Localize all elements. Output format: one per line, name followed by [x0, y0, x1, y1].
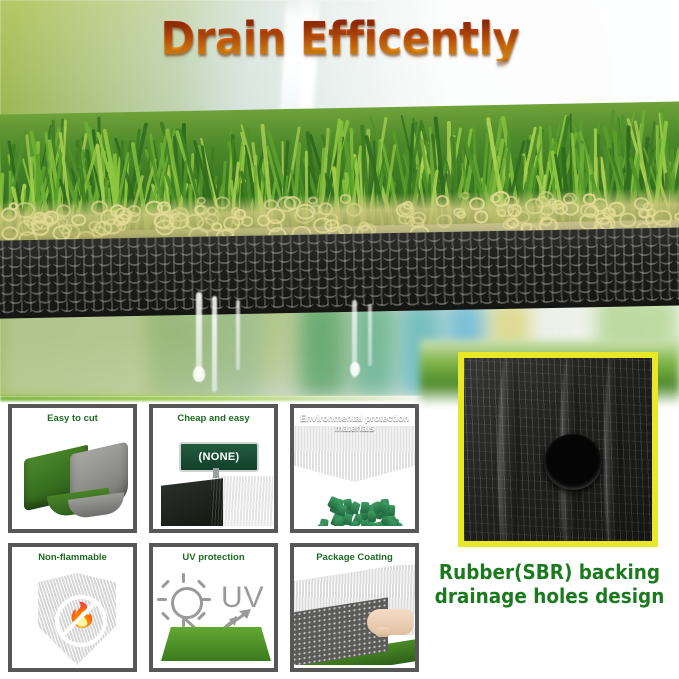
- thatch-curl: [525, 198, 544, 214]
- feature-card-easy-to-cut[interactable]: Easy to cut: [8, 404, 137, 533]
- thatch-curl: [71, 214, 86, 227]
- water-droplet: [193, 366, 205, 382]
- feature-label: Environmental protection materials: [294, 413, 415, 433]
- thatch-curl: [540, 212, 549, 220]
- thatch-curl: [214, 197, 229, 210]
- price-sign-text: (NONE): [199, 451, 240, 463]
- caption-line-1: Rubber(SBR) backing: [430, 560, 668, 584]
- sun-uv-rays-icon: UV: [153, 565, 274, 665]
- thatch-curl: [241, 216, 254, 227]
- feature-label: Easy to cut: [12, 413, 133, 424]
- thatch-curl: [436, 214, 453, 229]
- thatch-curl: [277, 196, 297, 213]
- thatch-curl: [469, 197, 485, 211]
- thatch-curl: [103, 219, 122, 235]
- feature-card-non-flammable[interactable]: Non-flammable 🔥: [8, 543, 137, 672]
- thatch-curl: [461, 192, 470, 200]
- thatch-curl: [579, 203, 596, 218]
- recycled-pellet: [334, 517, 343, 526]
- thatch-curl: [264, 199, 278, 211]
- feature-card-uv-protection[interactable]: UV protection UV: [149, 543, 278, 672]
- feature-card-package-coating[interactable]: Package Coating: [290, 543, 419, 672]
- thatch-curl: [436, 195, 450, 207]
- thatch-curl: [1, 226, 18, 240]
- thatch-curl: [197, 197, 206, 205]
- price-sign: (NONE): [179, 442, 259, 472]
- thatch-curl: [504, 196, 518, 208]
- turf-backing-mesh: [0, 227, 679, 318]
- feature-card-cheap-and-easy[interactable]: Cheap and easy (NONE): [149, 404, 278, 533]
- rubber-ridge: [498, 352, 520, 547]
- rubber-backing-panel: Rubber(SBR) backing drainage holes desig…: [420, 396, 679, 679]
- green-divider: [0, 396, 440, 401]
- drainage-hole: [544, 434, 602, 490]
- thatch-curl: [91, 225, 106, 237]
- drip-stream: [368, 304, 372, 366]
- bokeh-block-b: [352, 300, 396, 396]
- panel-caption: Rubber(SBR) backing drainage holes desig…: [430, 560, 668, 609]
- hero-title: Drain Efficently: [0, 16, 679, 61]
- caption-line-2: drainage holes design: [430, 584, 668, 608]
- hero-title-text: Drain Efficently: [160, 16, 519, 61]
- turf-cross-section: [0, 101, 679, 314]
- thatch-curl: [308, 196, 317, 204]
- hand-lifting-turf-icon: [294, 565, 415, 665]
- feature-label: Cheap and easy: [153, 413, 274, 424]
- thatch-curl: [474, 211, 489, 224]
- thatch-curl: [398, 214, 411, 225]
- feature-label: UV protection: [153, 552, 274, 563]
- thatch-curl: [346, 203, 363, 217]
- feature-label: Non-flammable: [12, 552, 133, 563]
- rubber-ridge: [604, 352, 622, 547]
- thatch-curl: [294, 208, 314, 225]
- pellet-pile: [316, 496, 402, 526]
- drip-stream: [236, 300, 240, 370]
- turf-pellets-icon: [294, 426, 415, 526]
- price-sign-icon: (NONE): [153, 426, 274, 526]
- thatch-curl: [674, 212, 679, 220]
- water-droplet: [350, 362, 360, 376]
- thatch-curl: [324, 213, 339, 226]
- thatch-curl: [257, 215, 271, 227]
- product-infographic: Drain Efficently Easy to cut Cheap and e…: [0, 0, 679, 679]
- features-grid: Easy to cut Cheap and easy (NONE): [8, 404, 420, 672]
- thatch-curl: [410, 216, 425, 229]
- rubber-backing-photo: [458, 352, 658, 547]
- shield-no-fire-icon: 🔥: [12, 565, 133, 665]
- rolled-turf-icon: [12, 426, 133, 526]
- drip-stream: [212, 296, 217, 392]
- bokeh-block-a: [300, 300, 346, 396]
- feature-card-environmental-protection[interactable]: Environmental protection materials: [290, 404, 419, 533]
- feature-label: Package Coating: [294, 552, 415, 563]
